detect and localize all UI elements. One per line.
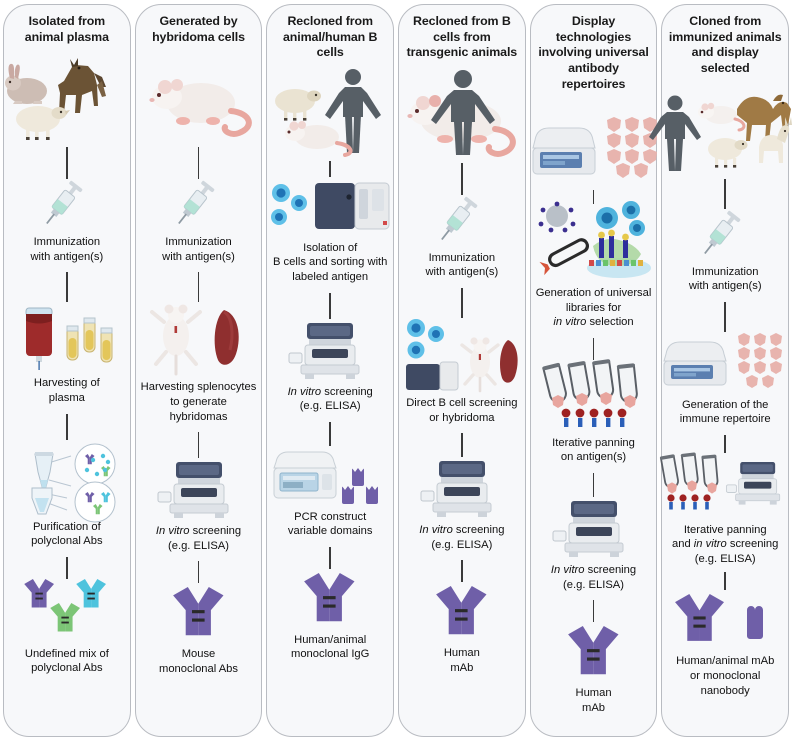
workflow-step: Direct B cell screeningor hybridoma [404,318,520,425]
workflow-step: Isolation ofB cells and sorting withlabe… [272,177,388,285]
connector-line [329,547,331,569]
connector-line [461,163,463,195]
polyclonal-antibody-mix-icon [9,579,125,643]
workflow-step: In vitro screening(e.g. ELISA) [141,458,257,553]
purification-tube-icon [9,440,125,516]
connector-line [461,288,463,318]
connector-line [66,414,68,440]
column-title: Recloned from animal/human B cells [272,14,388,61]
workflow-step: Immunizationwith antigen(s) [404,195,520,280]
product-label: HumanmAb [444,646,480,675]
workflow-product: Human/animalmonoclonal IgG [272,569,388,662]
workflow-step: In vitro screening(e.g. ELISA) [404,457,520,552]
syringe-icon [667,209,783,261]
workflow-step: Purification ofpolyclonal Abs [9,440,125,549]
connector-line [461,560,463,582]
workflow-column-polyclonal-plasma: Isolated from animal plasma [3,4,131,737]
connector-line [198,432,200,458]
workflow-step: Generation of theimmune repertoire [667,332,783,427]
step-label: Immunizationwith antigen(s) [689,265,762,294]
workflow-step: Immunizationwith antigen(s) [667,209,783,294]
sequencer-and-colonies-icon [667,332,783,394]
step-label: Immunizationwith antigen(s) [162,235,235,264]
workflow-step: Harvesting splenocytesto generate hybrid… [141,302,257,424]
elisa-reader-icon [536,497,652,559]
step-label: Purification ofpolyclonal Abs [31,520,103,549]
syringe-icon [141,179,257,231]
connector-line [593,190,595,204]
workflow-step: In vitro screening(e.g. ELISA) [272,319,388,414]
step-label: In vitro screening(e.g. ELISA) [156,524,241,553]
connector-line [724,302,726,332]
product-label: Human/animalmonoclonal IgG [291,633,369,662]
step-label: Iterative panningand in vitro screening(… [672,523,778,567]
product-label: Mousemonoclonal Abs [159,647,238,676]
workflow-product: HumanmAb [404,582,520,675]
workflow-product: Human/animal mAbor monoclonal nanobody [667,590,783,698]
panning-tubes-icon [536,360,652,432]
column-title: Recloned from B cells from transgenic an… [404,14,520,61]
workflow-step: Harvesting ofplasma [9,302,125,405]
connector-line [593,600,595,622]
workflow-step: Iterative panningand in vitro screening(… [667,453,783,567]
workflow-step: Iterative panningon antigen(s) [536,360,652,465]
rabbit-horse-sheep-icon [9,49,125,141]
column-title: Isolated from animal plasma [9,14,125,45]
product-label: Undefined mix ofpolyclonal Abs [25,647,109,676]
b-cells-mouse-sorter-icon [404,318,520,392]
panning-tubes-elisa-icon [667,453,783,519]
connector-line [724,435,726,453]
workflow-step: Immunizationwith antigen(s) [141,179,257,264]
connector-line [198,272,200,302]
workflow-column-immunized-display: Cloned from immunized animals and displa… [661,4,789,737]
monoclonal-antibody-and-nanobody-icon [667,590,783,650]
workflow-diagram: Isolated from animal plasma [0,0,792,741]
phage-library-icon [536,204,652,282]
sequencer-and-colonies-icon [536,96,652,188]
step-label: Harvesting splenocytesto generate hybrid… [141,380,257,424]
syringe-icon [9,179,125,231]
connector-line [329,422,331,446]
monoclonal-antibody-icon [404,582,520,642]
monoclonal-antibody-icon [141,583,257,643]
workflow-product: HumanmAb [536,622,652,715]
syringe-icon [404,195,520,247]
workflow-step: PCR constructvariable domains [272,446,388,539]
connector-line [461,433,463,457]
workflow-step: Generation of universallibraries forin v… [536,204,652,330]
connector-line [66,557,68,579]
step-label: In vitro screening(e.g. ELISA) [288,385,373,414]
workflow-column-display-universal: Display technologies involving universal… [530,4,658,737]
workflow-product: Mousemonoclonal Abs [141,583,257,676]
step-label: Immunizationwith antigen(s) [425,251,498,280]
column-title: Generated by hybridoma cells [141,14,257,45]
step-label: Immunizationwith antigen(s) [30,235,103,264]
connector-line [198,147,200,179]
step-label: Isolation ofB cells and sorting withlabe… [273,241,387,285]
connector-line [593,473,595,497]
connector-line [724,572,726,590]
workflow-step: In vitro screening(e.g. ELISA) [536,497,652,592]
workflow-column-hybridoma: Generated by hybridoma cells [135,4,263,737]
step-label: In vitro screening(e.g. ELISA) [551,563,636,592]
connector-line [329,161,331,177]
connector-line [593,338,595,360]
monoclonal-antibody-icon [536,622,652,682]
connector-line [198,561,200,583]
step-label: Harvesting ofplasma [34,376,100,405]
connector-line [329,293,331,319]
connector-line [66,272,68,302]
step-label: Direct B cell screeningor hybridoma [406,396,517,425]
elisa-reader-icon [272,319,388,381]
connector-line [66,147,68,179]
step-label: PCR constructvariable domains [288,510,373,539]
step-label: Iterative panningon antigen(s) [552,436,635,465]
workflow-product: Undefined mix ofpolyclonal Abs [9,579,125,676]
mouse-icon [141,49,257,141]
workflow-step: Immunizationwith antigen(s) [9,179,125,264]
workflow-column-transgenic-animals: Recloned from B cells from transgenic an… [398,4,526,737]
column-title: Cloned from immunized animals and displa… [667,14,783,77]
elisa-reader-icon [404,457,520,519]
product-label: Human/animal mAbor monoclonal nanobody [667,654,783,698]
step-label: Generation of theimmune repertoire [680,398,771,427]
connector-line [724,179,726,209]
monoclonal-antibody-icon [272,569,388,629]
human-mouse-camel-sheep-llama-icon [667,81,783,173]
product-label: HumanmAb [575,686,611,715]
mouse-spleen-icon [141,302,257,376]
transgenic-mouse-human-icon [404,65,520,157]
workflow-column-recloned-b-cells: Recloned from animal/human B cells [266,4,394,737]
sheep-human-mouse-icon [272,65,388,157]
elisa-reader-icon [141,458,257,520]
step-label: In vitro screening(e.g. ELISA) [419,523,504,552]
blood-bag-plasma-tubes-icon [9,302,125,372]
pcr-thermocycler-icon [272,446,388,506]
cell-sorter-icon [272,177,388,237]
step-label: Generation of universallibraries forin v… [536,286,652,330]
column-title: Display technologies involving universal… [536,14,652,92]
